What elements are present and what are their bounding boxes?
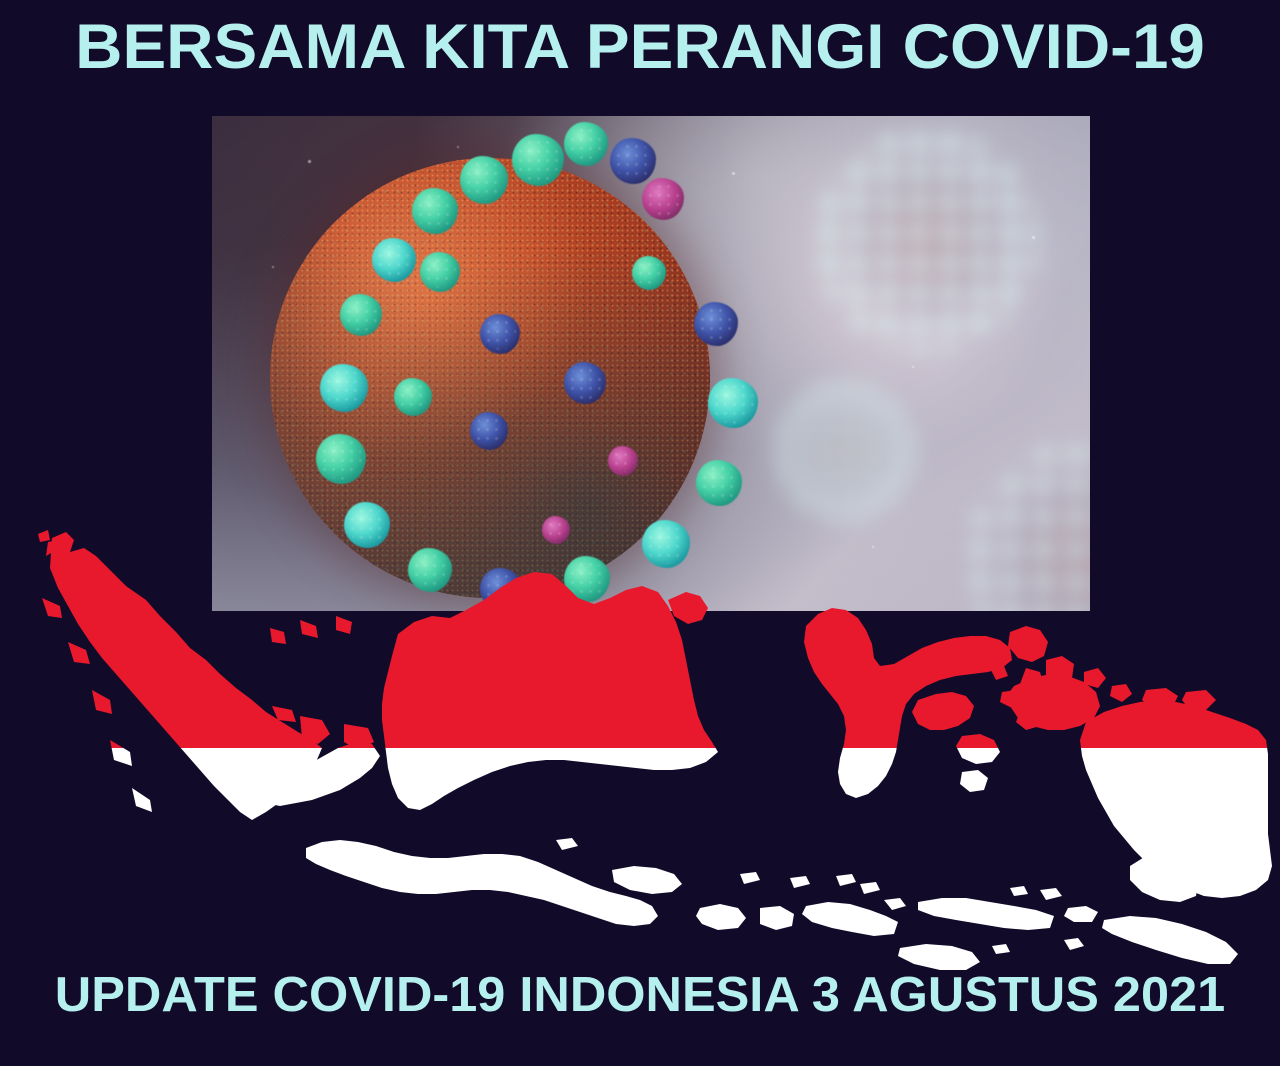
coronavirus-image [212, 116, 1090, 611]
update-caption: UPDATE COVID-19 INDONESIA 3 AGUSTUS 2021 [0, 971, 1280, 1020]
page-title: BERSAMA KITA PERANGI COVID-19 [0, 16, 1280, 79]
background-virion-3 [972, 446, 1090, 611]
background-virion-1 [822, 136, 1032, 346]
poster-canvas: BERSAMA KITA PERANGI COVID-19 [0, 0, 1280, 1066]
background-virion-2 [780, 386, 910, 516]
